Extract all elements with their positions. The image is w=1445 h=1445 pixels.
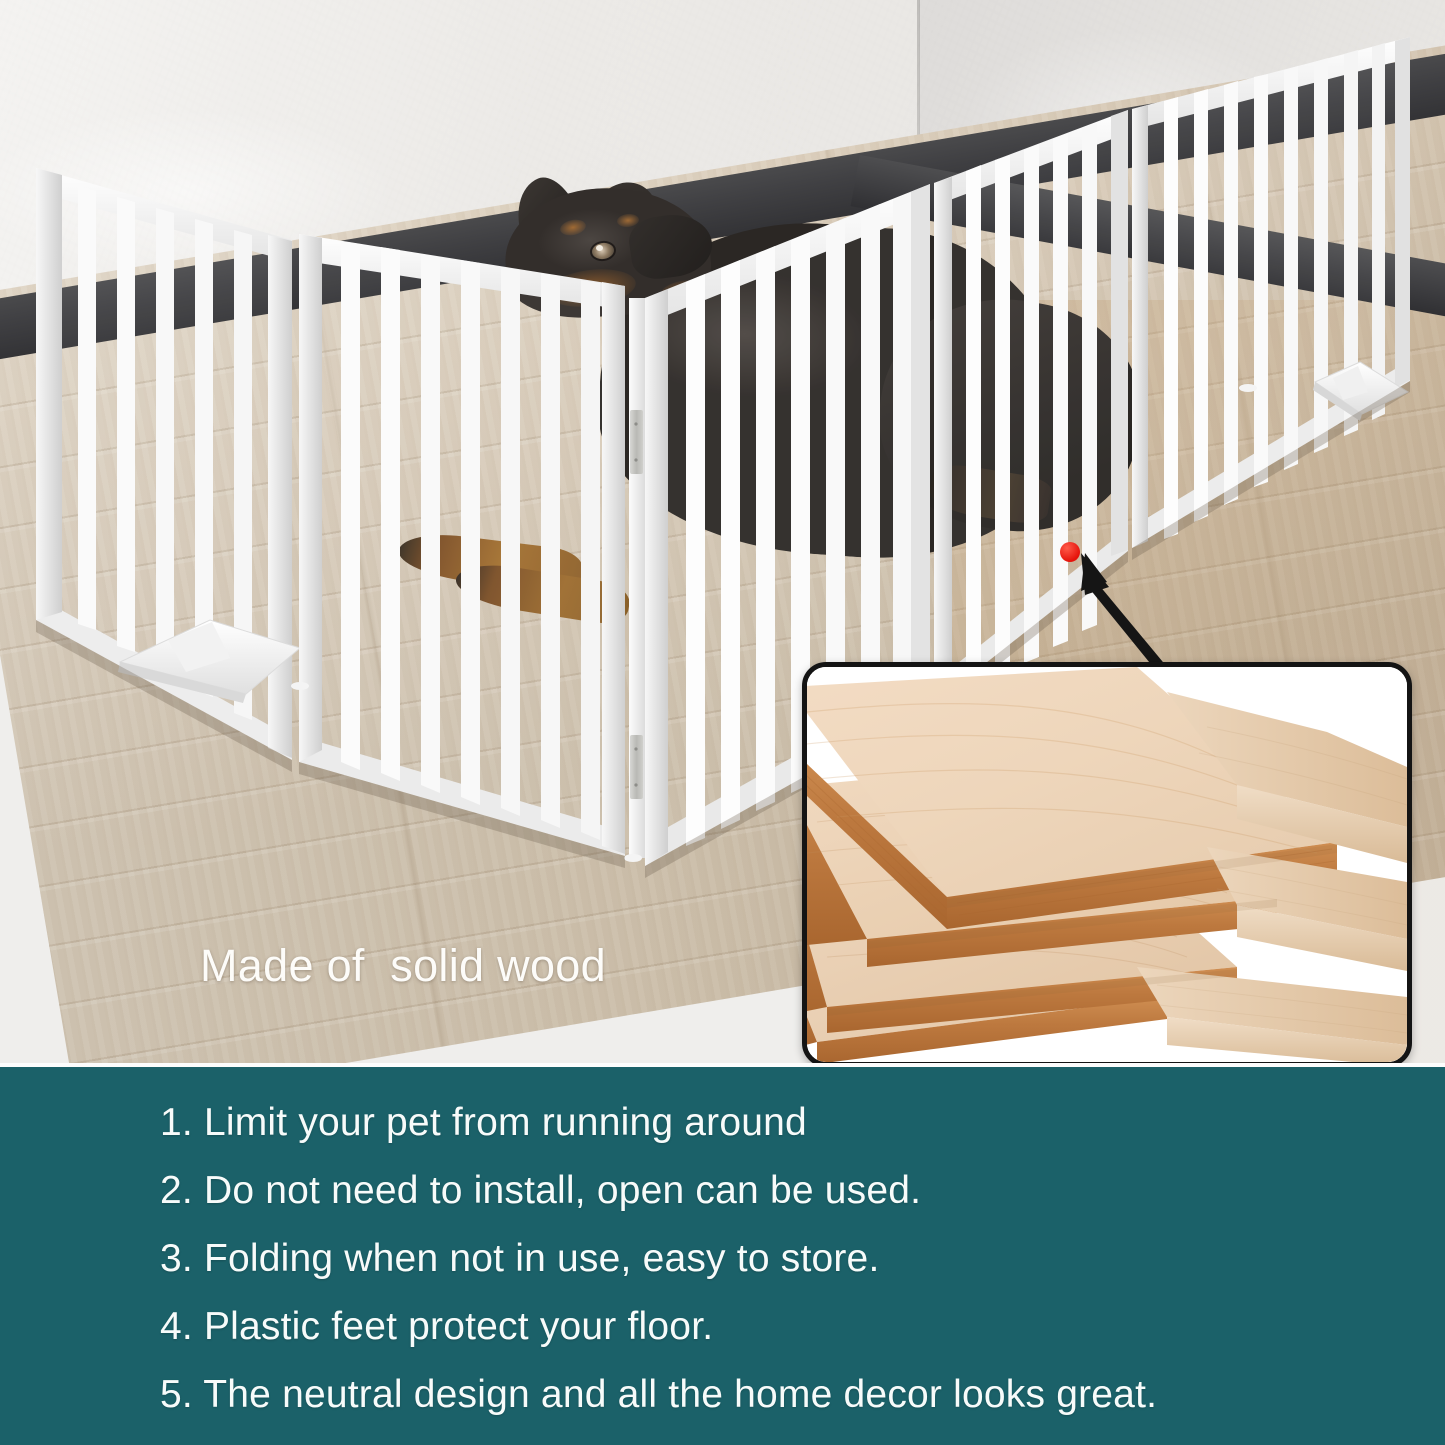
feature-item-3: 3. Folding when not in use, easy to stor…	[160, 1225, 1420, 1293]
gate-hinge-group	[629, 298, 645, 858]
feature-item-1: 1. Limit your pet from running around	[160, 1089, 1420, 1157]
product-photo: Made of solid wood	[0, 0, 1445, 1063]
hinge-upper	[630, 410, 643, 474]
wood-detail-inset	[802, 662, 1412, 1063]
feature-item-2: 2. Do not need to install, open can be u…	[160, 1157, 1420, 1225]
feature-item-4: 4. Plastic feet protect your floor.	[160, 1293, 1420, 1361]
feature-list: 1. Limit your pet from running around 2.…	[160, 1089, 1420, 1429]
features-banner: 1. Limit your pet from running around 2.…	[0, 1063, 1445, 1445]
gate-panel-2	[299, 234, 625, 856]
feature-item-5: 5. The neutral design and all the home d…	[160, 1361, 1420, 1429]
hinge-lower	[630, 735, 643, 799]
photo-caption: Made of solid wood	[200, 940, 606, 992]
wood-boards-illustration	[807, 667, 1407, 1062]
product-infographic: Made of solid wood	[0, 0, 1445, 1445]
